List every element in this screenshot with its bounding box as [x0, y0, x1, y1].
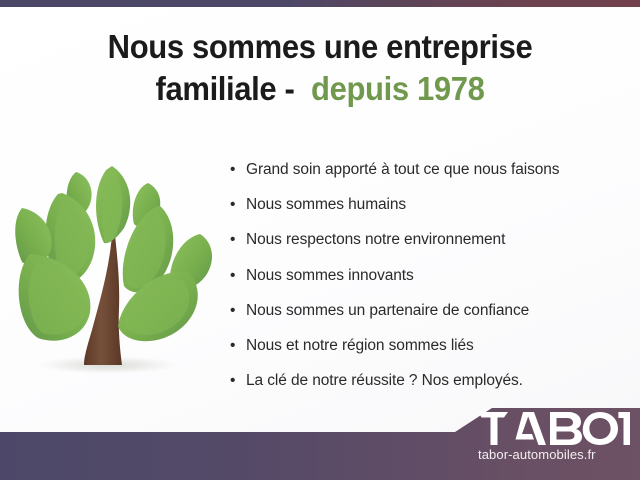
list-item: •La clé de notre réussite ? Nos employés… — [228, 363, 638, 398]
slide-canvas: Nous sommes une entreprise familiale - d… — [0, 0, 640, 480]
bullet-marker: • — [230, 328, 235, 363]
list-item: •Nous sommes innovants — [228, 258, 638, 293]
bullet-marker: • — [230, 222, 235, 257]
heading-accent: depuis 1978 — [311, 70, 484, 107]
top-accent-strip — [0, 0, 640, 7]
list-item: •Nous respectons notre environnement — [228, 222, 638, 257]
bullet-text: Nous et notre région sommes liés — [246, 337, 474, 354]
list-item: •Nous et notre région sommes liés — [228, 328, 638, 363]
bullet-list: •Grand soin apporté à tout ce que nous f… — [228, 152, 638, 398]
brand-logo[interactable]: tabor-automobiles.fr — [478, 412, 638, 470]
bullet-text: Nous sommes un partenaire de confiance — [246, 302, 529, 319]
list-item: •Grand soin apporté à tout ce que nous f… — [228, 152, 638, 187]
tree-illustration — [12, 150, 227, 388]
bullet-marker: • — [230, 363, 235, 398]
bullet-marker: • — [230, 152, 235, 187]
heading-line-2-main: familiale — [156, 70, 277, 107]
logo-wordmark — [478, 412, 638, 446]
bullet-text: Nous respectons notre environnement — [246, 231, 505, 248]
page-title: Nous sommes une entreprise familiale - d… — [19, 26, 621, 110]
bullet-marker: • — [230, 187, 235, 222]
bullet-text: Nous sommes innovants — [246, 267, 414, 284]
list-item: •Nous sommes humains — [228, 187, 638, 222]
bullet-marker: • — [230, 258, 235, 293]
bullet-marker: • — [230, 293, 235, 328]
heading-line-2: familiale - depuis 1978 — [19, 68, 621, 110]
bullet-text: Grand soin apporté à tout ce que nous fa… — [246, 161, 559, 178]
heading-dash: - — [285, 70, 295, 107]
heading-line-1: Nous sommes une entreprise — [108, 28, 533, 65]
bullet-text: La clé de notre réussite ? Nos employés. — [246, 372, 523, 389]
list-item: •Nous sommes un partenaire de confiance — [228, 293, 638, 328]
logo-subtitle: tabor-automobiles.fr — [478, 447, 638, 462]
bullet-text: Nous sommes humains — [246, 196, 406, 213]
